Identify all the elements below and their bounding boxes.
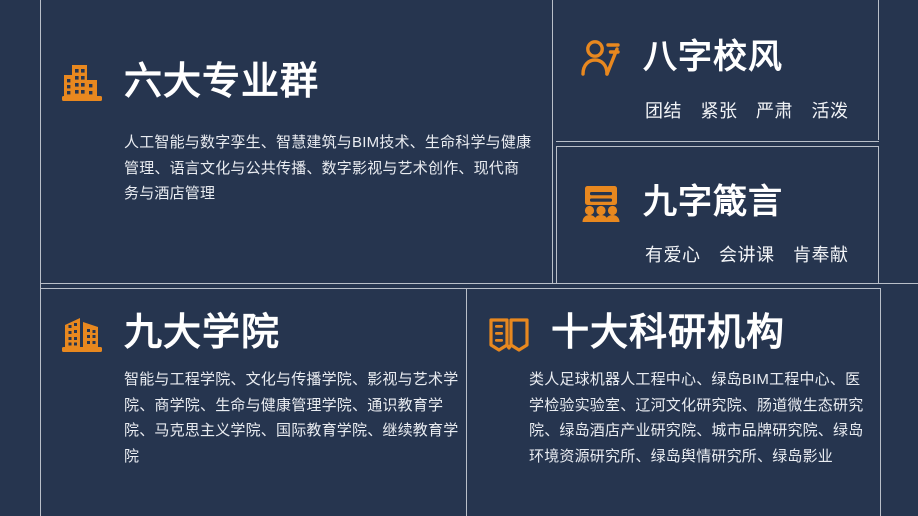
infographic-canvas: 六大专业群 人工智能与数字孪生、智慧建筑与BIM技术、生命科学与健康管理、语言文… <box>0 0 918 516</box>
panel-motto-title: 九字箴言 <box>643 185 783 221</box>
panel-spirit-subtitle: 团结 紧张 严肃 活泼 <box>645 97 849 123</box>
panel-majors-header: 六大专业群 <box>56 57 319 109</box>
person-speaking-icon <box>575 32 627 84</box>
panel-spirit-header: 八字校风 <box>575 32 783 84</box>
panel-majors-title: 六大专业群 <box>124 63 319 103</box>
open-book-icon <box>483 308 535 360</box>
divider-spirit-right <box>878 0 879 140</box>
panel-motto: 九字箴言 有爱心 会讲课 肯奉献 <box>557 147 878 283</box>
panel-majors: 六大专业群 人工智能与数字孪生、智慧建筑与BIM技术、生命科学与健康管理、语言文… <box>41 0 552 283</box>
divider-spirit-bottom <box>556 141 879 142</box>
panel-research-title: 十大科研机构 <box>551 314 785 354</box>
panel-research-header: 十大科研机构 <box>483 308 785 360</box>
panel-research: 十大科研机构 类人足球机器人工程中心、绿岛BIM工程中心、医学检验实验室、辽河文… <box>467 289 880 516</box>
divider-research-right <box>880 288 881 516</box>
panel-research-body: 类人足球机器人工程中心、绿岛BIM工程中心、医学检验实验室、辽河文化研究院、肠道… <box>529 367 874 469</box>
panel-colleges: 九大学院 智能与工程学院、文化与传播学院、影视与艺术学院、商学院、生命与健康管理… <box>41 289 466 516</box>
panel-spirit-title: 八字校风 <box>643 40 783 76</box>
divider-horizontal-mid <box>40 283 918 284</box>
classroom-icon <box>575 177 627 229</box>
divider-motto-right <box>878 146 879 284</box>
panel-majors-body: 人工智能与数字孪生、智慧建筑与BIM技术、生命科学与健康管理、语言文化与公共传播… <box>124 130 534 207</box>
panel-motto-header: 九字箴言 <box>575 177 783 229</box>
panel-colleges-body: 智能与工程学院、文化与传播学院、影视与艺术学院、商学院、生命与健康管理学院、通识… <box>124 367 464 469</box>
panel-motto-subtitle: 有爱心 会讲课 肯奉献 <box>645 241 849 267</box>
divider-majors-right <box>552 0 553 284</box>
panel-colleges-header: 九大学院 <box>56 308 280 360</box>
panel-colleges-title: 九大学院 <box>124 314 280 354</box>
city-buildings-icon <box>56 57 108 109</box>
panel-spirit: 八字校风 团结 紧张 严肃 活泼 <box>557 0 878 141</box>
twin-towers-icon <box>56 308 108 360</box>
